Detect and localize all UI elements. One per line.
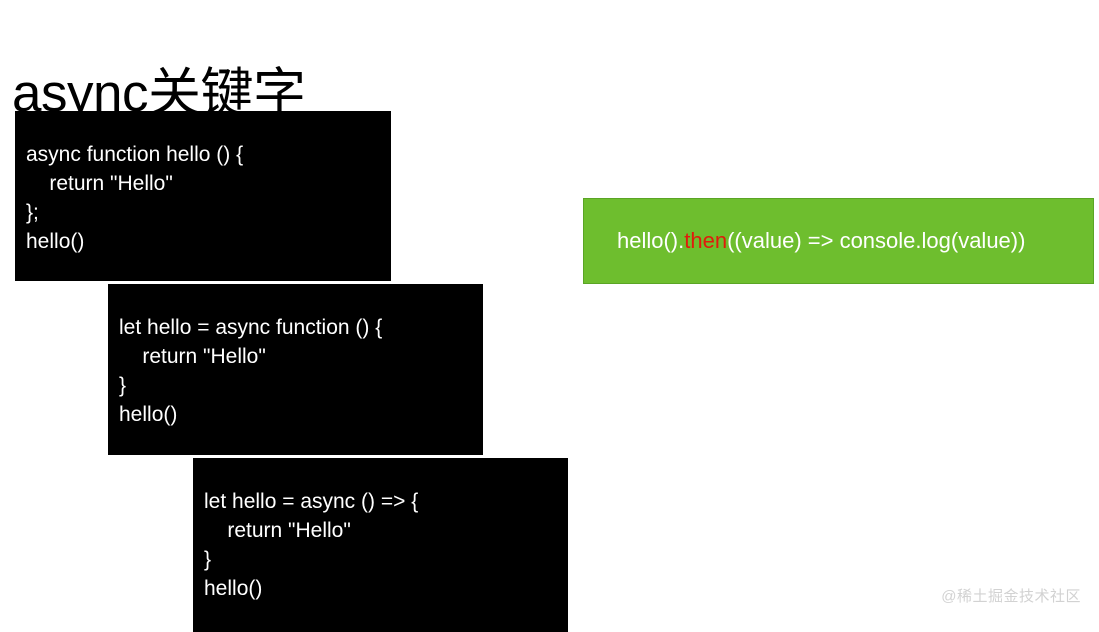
slide-canvas: async关键字 async function hello () { retur… (0, 0, 1099, 632)
then-code-prefix: hello(). (617, 228, 684, 253)
then-usage-callout: hello().then((value) => console.log(valu… (583, 198, 1094, 284)
code-card-async-function-declaration: async function hello () { return "Hello"… (15, 111, 391, 281)
then-code-suffix: ((value) => console.log(value)) (727, 228, 1025, 253)
code-block-async-function-expression: let hello = async function () { return "… (119, 313, 483, 429)
code-card-async-arrow-function: let hello = async () => { return "Hello"… (193, 458, 568, 632)
code-block-async-function-declaration: async function hello () { return "Hello"… (26, 140, 391, 256)
then-usage-code-line: hello().then((value) => console.log(valu… (584, 226, 1025, 256)
code-card-async-function-expression: let hello = async function () { return "… (108, 284, 483, 455)
code-block-async-arrow-function: let hello = async () => { return "Hello"… (204, 487, 568, 603)
watermark-label: @稀土掘金技术社区 (941, 587, 1081, 607)
then-keyword-highlight: then (684, 228, 727, 253)
